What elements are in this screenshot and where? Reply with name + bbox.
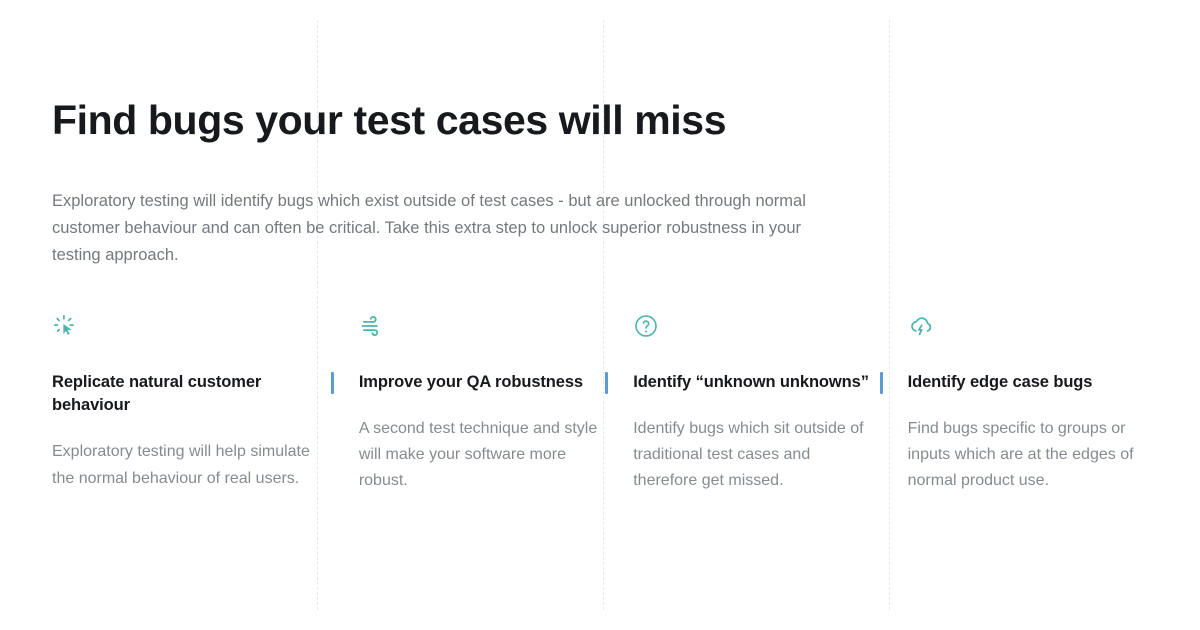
feature-column-2: Improve your QA robustness A second test… [325, 313, 599, 495]
feature-title: Improve your QA robustness [359, 343, 599, 394]
feature-column-4: Identify edge case bugs Find bugs specif… [874, 313, 1148, 495]
feature-column-1: Replicate natural customer behaviour Exp… [52, 313, 325, 495]
wind-icon [359, 313, 599, 343]
feature-title: Identify “unknown unknowns” [633, 343, 873, 394]
cursor-click-icon [52, 313, 325, 343]
cloud-lightning-icon [908, 313, 1148, 343]
feature-title: Identify edge case bugs [908, 343, 1148, 394]
accent-bar [605, 372, 608, 394]
question-circle-icon [633, 313, 873, 343]
intro-paragraph: Exploratory testing will identify bugs w… [52, 144, 852, 268]
feature-columns: Replicate natural customer behaviour Exp… [52, 313, 1148, 495]
feature-body: A second test technique and style will m… [359, 394, 599, 495]
feature-column-3: Identify “unknown unknowns” Identify bug… [599, 313, 873, 495]
marketing-section: Find bugs your test cases will miss Expl… [0, 0, 1200, 630]
feature-body: Exploratory testing will help simulate t… [52, 417, 325, 491]
feature-title: Replicate natural customer behaviour [52, 343, 325, 418]
accent-bar [880, 372, 883, 394]
feature-body: Find bugs specific to groups or inputs w… [908, 394, 1148, 495]
accent-bar [331, 372, 334, 394]
feature-body: Identify bugs which sit outside of tradi… [633, 394, 873, 495]
page-title: Find bugs your test cases will miss [52, 0, 1148, 144]
